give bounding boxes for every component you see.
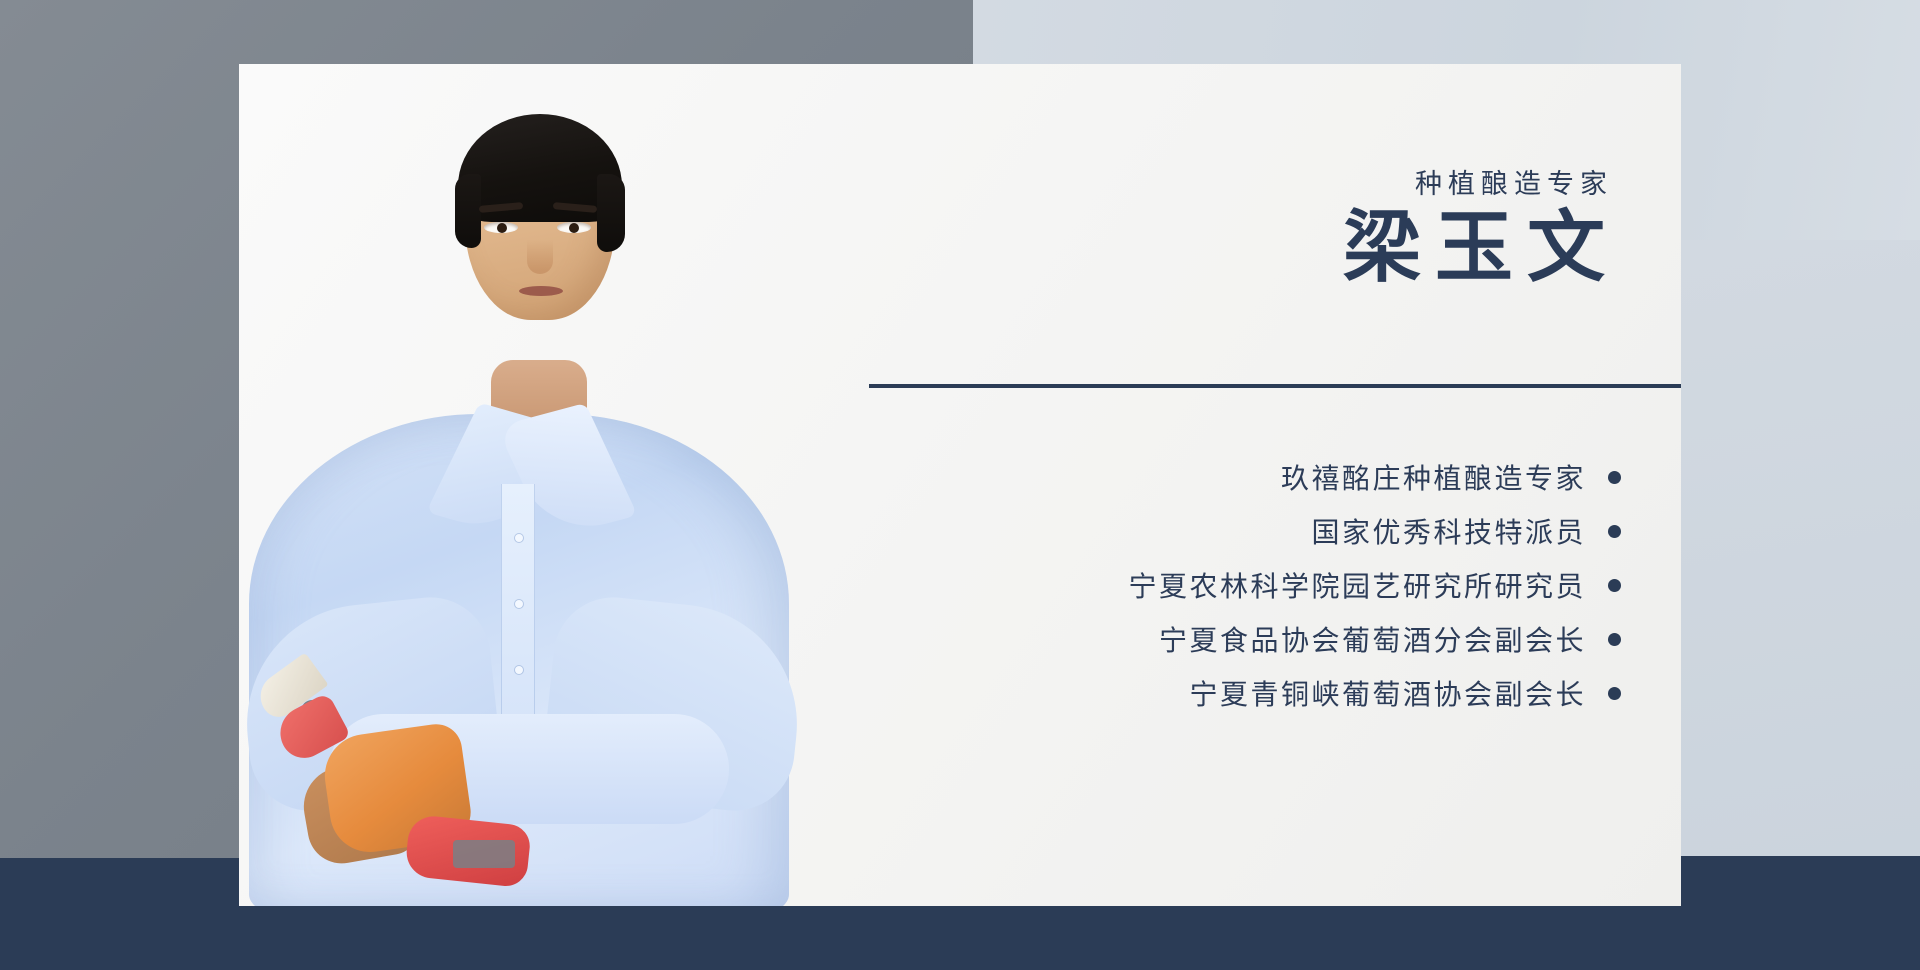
shirt-button bbox=[515, 600, 523, 608]
hair-side-right bbox=[597, 174, 625, 252]
background-navy-block-bottom-right bbox=[1681, 856, 1920, 970]
pupil-right bbox=[569, 223, 579, 233]
background-navy-strip-bottom bbox=[973, 906, 1681, 970]
shirt-button bbox=[515, 666, 523, 674]
shirt-button bbox=[515, 534, 523, 542]
bullet-dot-icon bbox=[1608, 525, 1621, 538]
credential-text: 玖禧酩庄种植酿造专家 bbox=[1281, 457, 1586, 497]
list-item: 玖禧酩庄种植酿造专家 bbox=[881, 450, 1621, 504]
credential-text: 宁夏青铜峡葡萄酒协会副会长 bbox=[1189, 673, 1586, 713]
credential-text: 国家优秀科技特派员 bbox=[1311, 511, 1586, 551]
credentials-list: 玖禧酩庄种植酿造专家 国家优秀科技特派员 宁夏农林科学院园艺研究所研究员 宁夏食… bbox=[881, 450, 1621, 720]
nose bbox=[527, 236, 553, 274]
credential-text: 宁夏食品协会葡萄酒分会副会长 bbox=[1159, 619, 1586, 659]
expert-name: 梁玉文 bbox=[1343, 204, 1619, 291]
bullet-dot-icon bbox=[1608, 471, 1621, 484]
background-lightblue-block-right bbox=[1681, 240, 1920, 856]
list-item: 国家优秀科技特派员 bbox=[881, 504, 1621, 558]
credential-text: 宁夏农林科学院园艺研究所研究员 bbox=[1128, 565, 1586, 605]
list-item: 宁夏青铜峡葡萄酒协会副会长 bbox=[881, 666, 1621, 720]
list-item: 宁夏食品协会葡萄酒分会副会长 bbox=[881, 612, 1621, 666]
role-title: 种植酿造专家 bbox=[1415, 162, 1613, 201]
profile-info-column: 种植酿造专家 梁玉文 玖禧酩庄种植酿造专家 国家优秀科技特派员 宁夏农林科学院园… bbox=[859, 64, 1681, 906]
list-item: 宁夏农林科学院园艺研究所研究员 bbox=[881, 558, 1621, 612]
bullet-dot-icon bbox=[1608, 579, 1621, 592]
bullet-dot-icon bbox=[1608, 633, 1621, 646]
hair-side-left bbox=[455, 174, 481, 248]
expert-portrait-photo bbox=[239, 64, 839, 906]
mouth bbox=[519, 286, 563, 296]
bullet-dot-icon bbox=[1608, 687, 1621, 700]
pupil-left bbox=[497, 223, 507, 233]
divider-line bbox=[869, 384, 1681, 388]
pruning-shear-label bbox=[453, 840, 515, 868]
profile-card: 种植酿造专家 梁玉文 玖禧酩庄种植酿造专家 国家优秀科技特派员 宁夏农林科学院园… bbox=[239, 64, 1681, 906]
